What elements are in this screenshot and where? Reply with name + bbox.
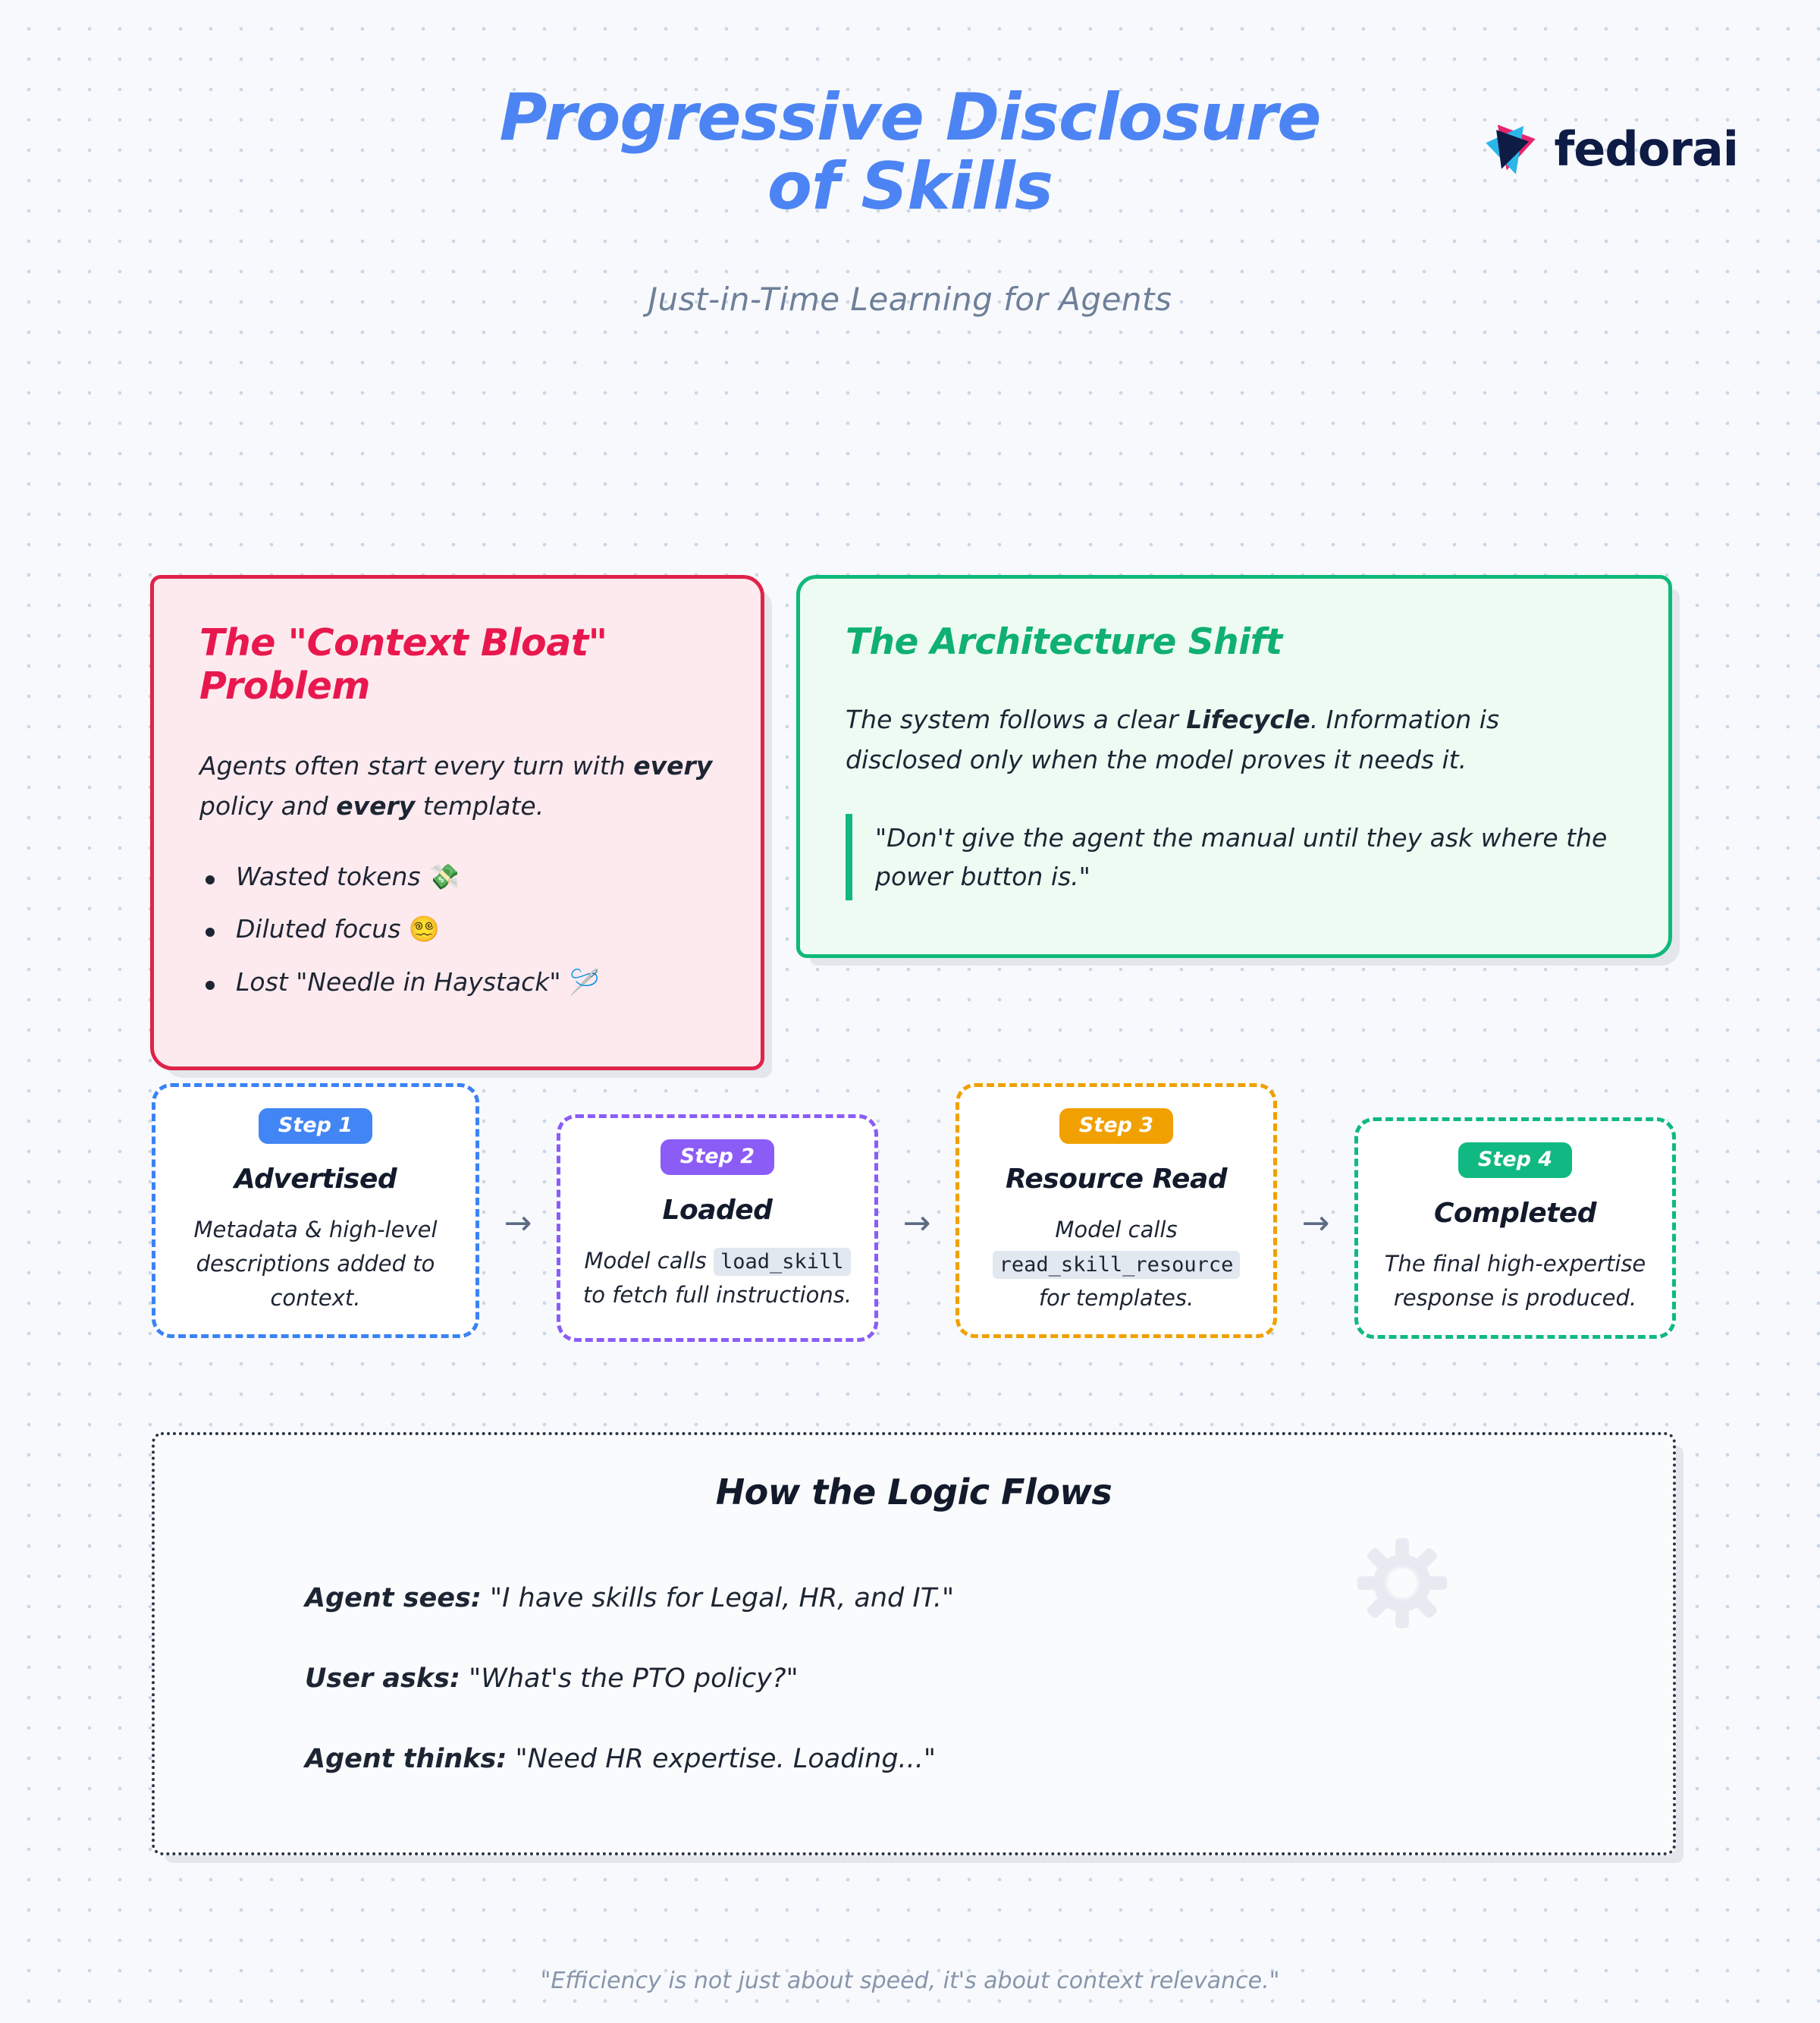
step-desc-after: for templates. xyxy=(1039,1285,1194,1311)
logic-flow-panel: How the Logic Flows Agent sees: "I have … xyxy=(152,1432,1676,1855)
shift-body-bold: Lifecycle xyxy=(1186,705,1310,734)
step-desc-before: Model calls xyxy=(1055,1217,1177,1242)
logic-line-value: "What's the PTO policy?" xyxy=(469,1663,798,1694)
code-chip-load-skill: load_skill xyxy=(714,1248,851,1276)
shift-card-quote: "Don't give the agent the manual until t… xyxy=(846,814,1623,900)
bullet-text: Wasted tokens xyxy=(236,862,421,891)
lifecycle-step-flow: Step 1 Advertised Metadata & high-level … xyxy=(152,1083,1676,1356)
shift-card-heading: The Architecture Shift xyxy=(846,621,1623,663)
page-title: Progressive Disclosure of Skills xyxy=(379,83,1441,221)
list-item: Diluted focus 😵‍💫 xyxy=(199,916,715,943)
shift-body-prefix: The system follows a clear xyxy=(846,705,1186,734)
logic-line-value: "I have skills for Legal, HR, and IT." xyxy=(490,1583,954,1613)
logic-line-value: "Need HR expertise. Loading..." xyxy=(516,1744,936,1774)
step-card-advertised[interactable]: Step 1 Advertised Metadata & high-level … xyxy=(152,1083,479,1338)
arrow-right-icon: → xyxy=(504,1207,532,1240)
step-card-resource-read[interactable]: Step 3 Resource Read Model calls read_sk… xyxy=(955,1083,1277,1338)
logic-line-label: Agent thinks: xyxy=(305,1744,507,1774)
problem-body-bold-1: every xyxy=(633,751,712,781)
context-bloat-problem-card: The "Context Bloat" Problem Agents often… xyxy=(150,575,764,1070)
problem-body-prefix: Agents often start every turn with xyxy=(199,751,633,781)
money-with-wings-emoji: 💸 xyxy=(428,862,460,891)
page-subtitle: Just-in-Time Learning for Agents xyxy=(0,281,1820,318)
step-badge: Step 2 xyxy=(661,1139,774,1175)
bullet-text: Diluted focus xyxy=(236,914,400,944)
fedorai-triangle-logo-icon xyxy=(1478,117,1543,182)
architecture-shift-card: The Architecture Shift The system follow… xyxy=(796,575,1672,958)
logic-panel-title: How the Logic Flows xyxy=(215,1472,1612,1513)
step-title: Completed xyxy=(1434,1198,1596,1229)
footer-quote: "Efficiency is not just about speed, it'… xyxy=(0,1968,1820,1994)
step-badge: Step 4 xyxy=(1458,1142,1572,1178)
step-title: Resource Read xyxy=(1006,1164,1227,1195)
problem-body-mid: policy and xyxy=(199,791,336,821)
logic-line-label: Agent sees: xyxy=(305,1583,482,1613)
step-card-completed[interactable]: Step 4 Completed The final high-expertis… xyxy=(1354,1117,1676,1339)
arrow-right-icon: → xyxy=(1302,1207,1330,1240)
logic-line-user-asks: User asks: "What's the PTO policy?" xyxy=(305,1663,1612,1695)
problem-bullet-list: Wasted tokens 💸 Diluted focus 😵‍💫 Lost "… xyxy=(199,863,715,996)
step-desc-before: Model calls xyxy=(584,1248,706,1274)
logic-line-label: User asks: xyxy=(305,1663,460,1694)
step-card-loaded[interactable]: Step 2 Loaded Model calls load_skill to … xyxy=(557,1114,878,1342)
step-description: Model calls load_skill to fetch full ins… xyxy=(580,1244,855,1312)
list-item: Lost "Needle in Haystack" 🪡 xyxy=(199,969,715,996)
step-badge: Step 1 xyxy=(259,1108,372,1144)
top-cards-row: The "Context Bloat" Problem Agents often… xyxy=(150,575,1674,1070)
step-description: Metadata & high-level descriptions added… xyxy=(175,1213,456,1315)
shift-card-body: The system follows a clear Lifecycle. In… xyxy=(846,699,1623,781)
gear-icon xyxy=(1354,1535,1450,1631)
step-title: Advertised xyxy=(234,1164,397,1195)
page-title-line-1: Progressive Disclosure xyxy=(499,80,1320,155)
bullet-text: Lost "Needle in Haystack" xyxy=(236,967,561,997)
logic-line-agent-thinks: Agent thinks: "Need HR expertise. Loadin… xyxy=(305,1743,1612,1775)
list-item: Wasted tokens 💸 xyxy=(199,863,715,891)
code-chip-read-skill-resource: read_skill_resource xyxy=(993,1251,1241,1279)
face-with-spiral-eyes-emoji: 😵‍💫 xyxy=(409,914,440,944)
sewing-needle-emoji: 🪡 xyxy=(569,967,600,997)
problem-body-suffix: template. xyxy=(415,791,544,821)
page-title-line-2: of Skills xyxy=(379,152,1441,221)
problem-card-body: Agents often start every turn with every… xyxy=(199,746,715,827)
brand-logo: fedorai xyxy=(1478,117,1738,182)
step-description: The final high-expertise response is pro… xyxy=(1378,1247,1652,1315)
step-badge: Step 3 xyxy=(1059,1108,1173,1144)
problem-card-heading: The "Context Bloat" Problem xyxy=(199,621,715,708)
problem-body-bold-2: every xyxy=(336,791,415,821)
step-title: Loaded xyxy=(663,1195,773,1226)
arrow-right-icon: → xyxy=(903,1207,931,1240)
brand-name: fedorai xyxy=(1554,126,1738,173)
step-description: Model calls read_skill_resource for temp… xyxy=(979,1213,1254,1315)
step-desc-after: to fetch full instructions. xyxy=(583,1282,852,1308)
